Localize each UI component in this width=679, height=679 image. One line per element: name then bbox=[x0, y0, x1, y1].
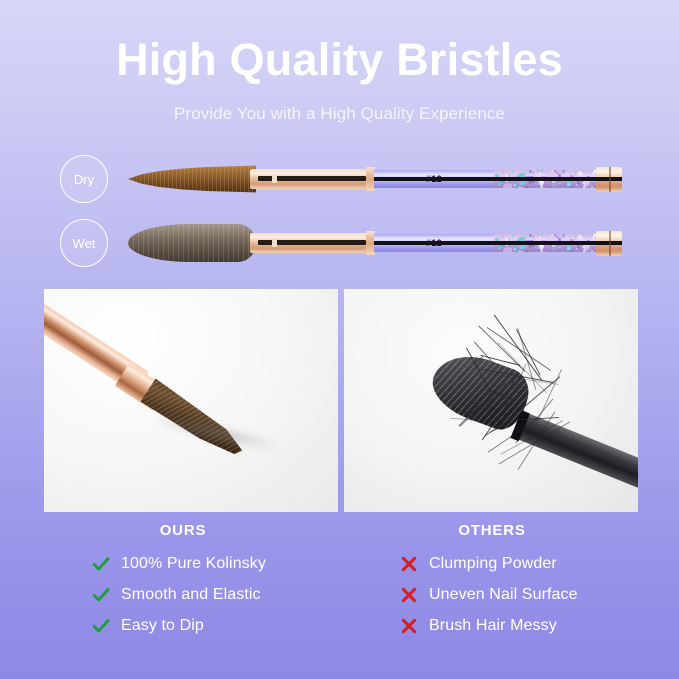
brush-illustration-wet: #12 bbox=[128, 212, 636, 274]
glitter-sequin-icon bbox=[513, 187, 515, 188]
glitter-sequin-icon bbox=[571, 182, 573, 184]
glitter-sequin-icon bbox=[529, 170, 532, 173]
glitter-sequin-icon bbox=[554, 234, 556, 236]
cross-icon bbox=[398, 553, 420, 575]
comparison-column-ours: OURS 100% Pure Kolinsky Smooth and Elast… bbox=[42, 522, 342, 641]
ferrule-pin-icon bbox=[272, 238, 277, 247]
brush-illustration-dry: #12 bbox=[128, 148, 636, 210]
list-item-label: Brush Hair Messy bbox=[429, 617, 557, 635]
glitter-sequin-icon bbox=[582, 180, 584, 182]
glitter-sequin-icon bbox=[584, 171, 585, 172]
glitter-sequin-icon bbox=[541, 170, 543, 172]
glitter-sequin-icon bbox=[524, 172, 526, 174]
glitter-sequin-icon bbox=[539, 237, 541, 239]
glitter-sequin-icon bbox=[527, 237, 529, 239]
glitter-sequin-icon bbox=[537, 234, 538, 235]
glitter-sequin-icon bbox=[512, 171, 514, 173]
glitter-sequin-icon bbox=[513, 184, 516, 187]
glitter-sequin-icon bbox=[568, 250, 574, 252]
brush-row-dry: Dry #12 bbox=[0, 148, 679, 210]
glitter-sequin-icon bbox=[568, 186, 574, 188]
glitter-sequin-icon bbox=[564, 247, 566, 249]
glitter-sequin-icon bbox=[529, 234, 532, 237]
glitter-sequin-icon bbox=[540, 250, 543, 252]
glitter-sequin-icon bbox=[591, 248, 593, 250]
glitter-sequin-icon bbox=[584, 235, 585, 236]
ferrule-pin-icon bbox=[272, 174, 277, 183]
badge-dry: Dry bbox=[60, 155, 108, 203]
glitter-sequin-icon bbox=[513, 251, 515, 252]
glitter-sequin-icon bbox=[524, 236, 526, 238]
check-icon bbox=[90, 615, 112, 637]
glitter-sequin-icon bbox=[497, 187, 498, 188]
glitter-sequin-icon bbox=[535, 172, 536, 173]
cross-icon bbox=[398, 584, 420, 606]
bristle-tip-pointed-icon bbox=[128, 165, 256, 193]
glitter-sequin-icon bbox=[535, 236, 536, 237]
cross-icon bbox=[398, 615, 420, 637]
list-item-label: Clumping Powder bbox=[429, 555, 557, 573]
glitter-sequin-icon bbox=[497, 251, 498, 252]
glitter-sequin-icon bbox=[559, 247, 561, 249]
photo-others-brush bbox=[344, 289, 638, 512]
list-item: Uneven Nail Surface bbox=[348, 579, 648, 610]
glitter-sequin-icon bbox=[583, 185, 586, 188]
list-item: Clumping Powder bbox=[348, 548, 648, 579]
glitter-sequin-icon bbox=[540, 186, 543, 188]
glitter-sequin-icon bbox=[545, 238, 546, 239]
comparison-heading-others: OTHERS bbox=[348, 522, 648, 539]
handle-end-cap-seam bbox=[609, 231, 611, 256]
list-item-label: Easy to Dip bbox=[121, 617, 204, 635]
glitter-sequin-icon bbox=[498, 248, 500, 250]
glitter-sequin-icon bbox=[538, 187, 540, 188]
glitter-sequin-icon bbox=[551, 234, 553, 236]
list-item: 100% Pure Kolinsky bbox=[42, 548, 342, 579]
glitter-sequin-icon bbox=[503, 183, 512, 188]
glitter-sequin-icon bbox=[576, 184, 578, 186]
glitter-sequin-icon bbox=[498, 184, 500, 186]
bristle-tip-rounded-icon bbox=[128, 224, 256, 262]
list-item: Brush Hair Messy bbox=[348, 610, 648, 641]
handle-size-label-dry: #12 bbox=[374, 172, 494, 186]
list-item-label: Uneven Nail Surface bbox=[429, 586, 578, 604]
glitter-sequin-icon bbox=[546, 184, 548, 186]
glitter-sequin-icon bbox=[561, 250, 563, 252]
glitter-sequin-icon bbox=[539, 173, 541, 175]
glitter-sequin-icon bbox=[529, 183, 531, 185]
photo-ours-brush bbox=[44, 289, 338, 512]
glitter-sequin-icon bbox=[591, 184, 593, 186]
glitter-sequin-icon bbox=[541, 234, 543, 236]
glitter-sequin-icon bbox=[559, 183, 561, 185]
glitter-sequin-icon bbox=[575, 236, 577, 238]
glitter-sequin-icon bbox=[537, 170, 538, 171]
glitter-sequin-icon bbox=[551, 170, 553, 172]
glitter-sequin-icon bbox=[571, 246, 573, 248]
handle-size-label-wet: #12 bbox=[374, 236, 494, 250]
page-title: High Quality Bristles bbox=[0, 36, 679, 83]
list-item: Smooth and Elastic bbox=[42, 579, 342, 610]
glitter-sequin-icon bbox=[503, 247, 512, 252]
glitter-sequin-icon bbox=[553, 184, 555, 186]
glitter-sequin-icon bbox=[553, 248, 555, 250]
page-subtitle: Provide You with a High Quality Experien… bbox=[0, 104, 679, 124]
glitter-sequin-icon bbox=[574, 175, 576, 177]
list-item-label: Smooth and Elastic bbox=[121, 586, 261, 604]
check-icon bbox=[90, 584, 112, 606]
glitter-sequin-icon bbox=[552, 187, 555, 188]
handle-end-cap-seam bbox=[609, 167, 611, 192]
glitter-sequin-icon bbox=[529, 247, 531, 249]
glitter-sequin-icon bbox=[554, 170, 556, 172]
glitter-sequin-icon bbox=[546, 248, 548, 250]
glitter-sequin-icon bbox=[552, 251, 555, 252]
list-item-label: 100% Pure Kolinsky bbox=[121, 555, 266, 573]
comparison-column-others: OTHERS Clumping Powder Uneven Nail Surfa… bbox=[348, 522, 648, 641]
glitter-sequin-icon bbox=[574, 239, 576, 241]
list-item: Easy to Dip bbox=[42, 610, 342, 641]
glitter-sequin-icon bbox=[591, 250, 593, 252]
glitter-sequin-icon bbox=[552, 245, 555, 248]
glitter-sequin-icon bbox=[564, 183, 566, 185]
glitter-sequin-icon bbox=[582, 244, 584, 246]
badge-wet: Wet bbox=[60, 219, 108, 267]
glitter-sequin-icon bbox=[527, 173, 529, 175]
glitter-sequin-icon bbox=[583, 249, 586, 252]
glitter-sequin-icon bbox=[538, 251, 540, 252]
infographic-canvas: High Quality Bristles Provide You with a… bbox=[0, 0, 679, 679]
glitter-sequin-icon bbox=[552, 181, 555, 184]
glitter-sequin-icon bbox=[576, 248, 578, 250]
glitter-sequin-icon bbox=[545, 174, 546, 175]
glitter-sequin-icon bbox=[512, 235, 514, 237]
photo-background bbox=[44, 289, 338, 512]
glitter-sequin-icon bbox=[561, 186, 563, 188]
comparison-heading-ours: OURS bbox=[42, 522, 342, 539]
glitter-sequin-icon bbox=[575, 172, 577, 174]
brush-row-wet: Wet #12 bbox=[0, 212, 679, 274]
glitter-sequin-icon bbox=[591, 186, 593, 188]
check-icon bbox=[90, 553, 112, 575]
glitter-sequin-icon bbox=[513, 248, 516, 251]
